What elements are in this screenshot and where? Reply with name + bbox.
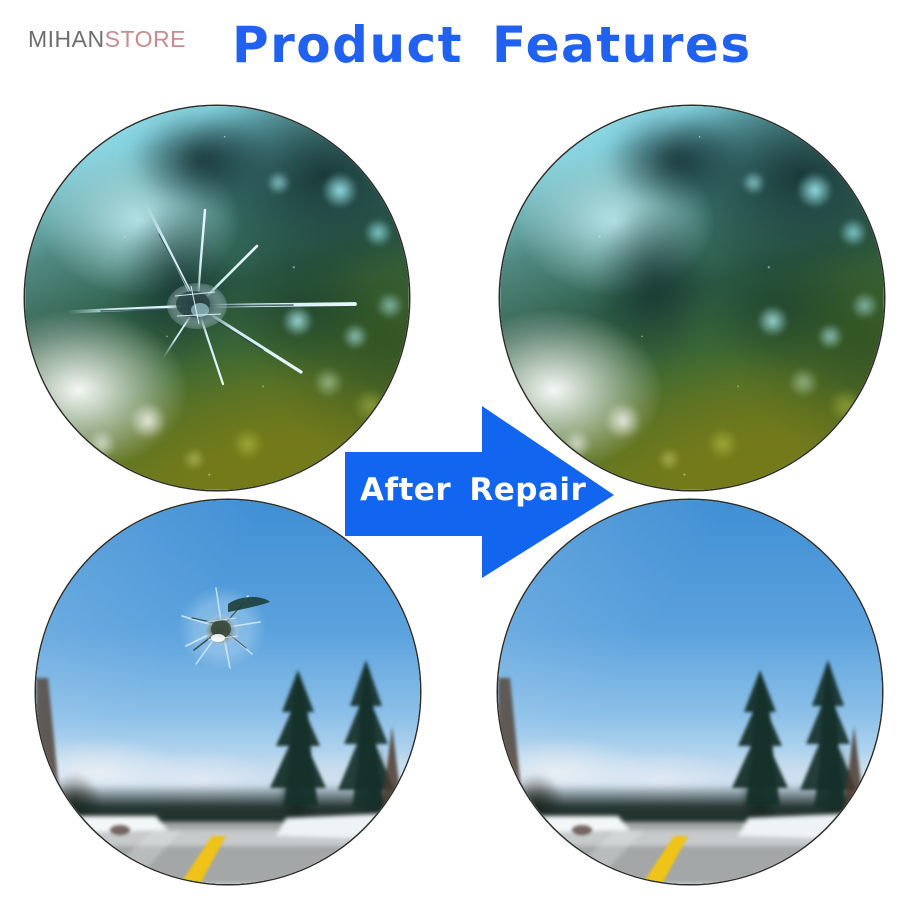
page-title: Product Features xyxy=(232,16,752,74)
brand-name-secondary: STORE xyxy=(105,26,186,52)
brand-name-primary: MIHAN xyxy=(28,26,105,52)
after-repair-arrow: After Repair xyxy=(340,400,620,586)
brand-logo: MIHANSTORE xyxy=(28,26,186,53)
arrow-label: After Repair xyxy=(360,472,575,508)
